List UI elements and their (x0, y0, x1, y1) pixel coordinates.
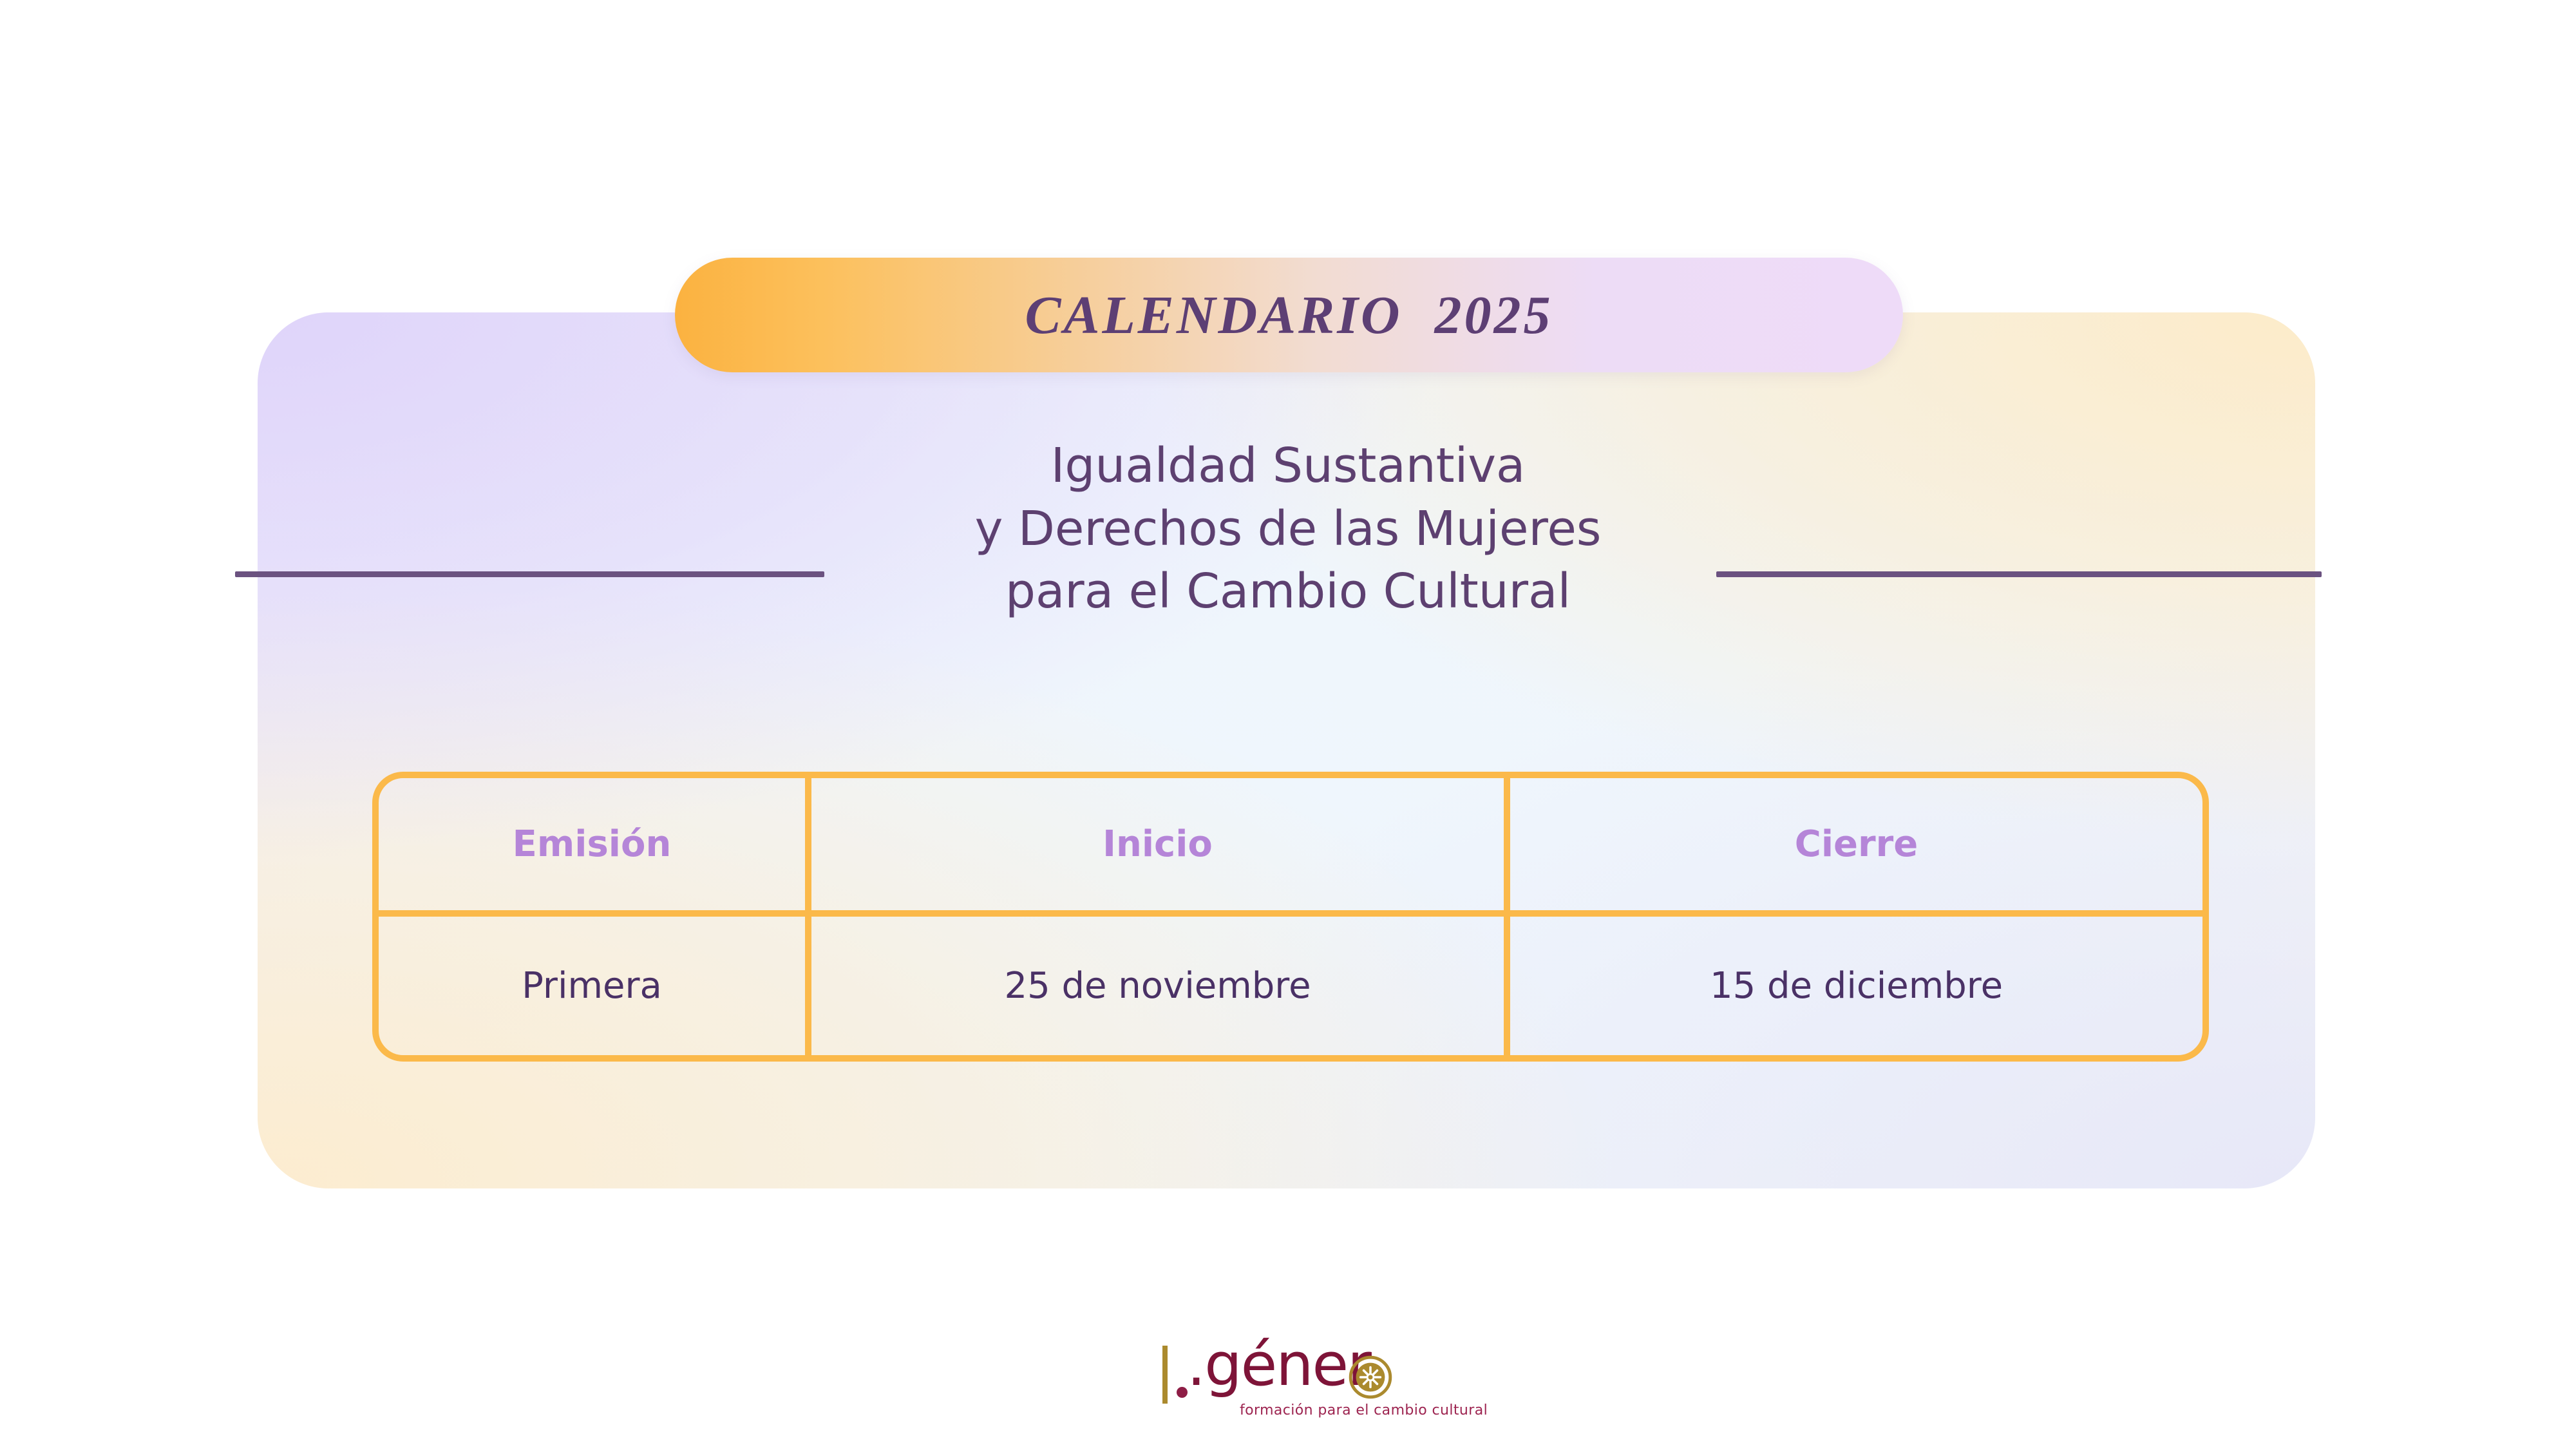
cell-cierre: 15 de diciembre (1504, 917, 2202, 1055)
table-row: Primera 25 de noviembre 15 de diciembre (379, 917, 2202, 1055)
table-header-row: Emisión Inicio Cierre (379, 778, 2202, 917)
calendar-title-banner: CALENDARIO 2025 (675, 258, 1903, 372)
column-header-emision: Emisión (379, 778, 805, 910)
logo-bar-icon (1162, 1346, 1168, 1404)
mandala-icon (1348, 1355, 1393, 1400)
calendar-slide: CALENDARIO 2025 Igualdad Sustantiva y De… (0, 0, 2576, 1450)
schedule-table: Emisión Inicio Cierre Primera 25 de novi… (372, 772, 2209, 1062)
cell-emision: Primera (379, 917, 805, 1055)
cell-inicio: 25 de noviembre (805, 917, 1504, 1055)
calendar-title: CALENDARIO 2025 (1025, 284, 1553, 347)
column-header-inicio: Inicio (805, 778, 1504, 910)
program-heading: Igualdad Sustantiva y Derechos de las Mu… (0, 435, 2576, 624)
divider-left (235, 571, 824, 577)
logo-tagline: formación para el cambio cultural (1240, 1402, 1488, 1418)
divider-right (1716, 571, 2322, 577)
column-header-cierre: Cierre (1504, 778, 2202, 910)
logo-dot-icon (1177, 1387, 1188, 1398)
logo-wordmark: .géner (1187, 1335, 1370, 1395)
brand-logo: .géner formación para el cambi (1162, 1343, 1420, 1420)
